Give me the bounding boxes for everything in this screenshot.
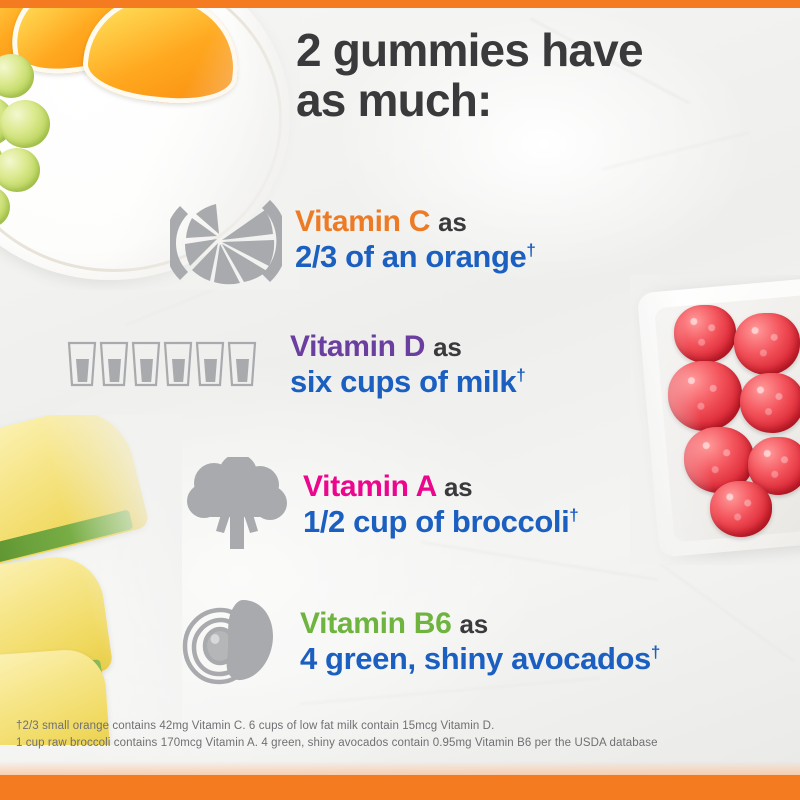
vitamin-a-nutrient-name: Vitamin A bbox=[303, 470, 436, 503]
vitamin-d-comparison-line: six cups of milk† bbox=[290, 364, 525, 401]
vitamin-c-comparison-line: 2/3 of an orange† bbox=[295, 239, 535, 276]
vitamin-b6-nutrient-line: Vitamin B6 as bbox=[300, 607, 660, 641]
vitamin-a-dagger: † bbox=[569, 505, 578, 524]
broccoli-icon bbox=[180, 455, 295, 555]
photo-raspberries-dish bbox=[630, 275, 800, 565]
vitamin-row-vitamin-b6: Vitamin B6 as 4 green, shiny avocados† bbox=[172, 592, 660, 692]
vitamin-b6-dagger: † bbox=[651, 642, 660, 661]
vitamin-row-vitamin-c: Vitamin C as 2/3 of an orange† bbox=[165, 192, 535, 288]
vitamin-d-connector: as bbox=[433, 332, 461, 362]
vitamin-c-nutrient-name: Vitamin C bbox=[295, 205, 430, 238]
vitamin-d-text-block: Vitamin D as six cups of milk† bbox=[290, 330, 525, 400]
avocado-icon bbox=[172, 592, 292, 692]
vitamin-a-text-block: Vitamin A as 1/2 cup of broccoli† bbox=[303, 470, 578, 540]
vitamin-c-dagger: † bbox=[526, 240, 535, 259]
vitamin-d-comparison: six cups of milk bbox=[290, 364, 516, 399]
footnote-disclaimer: †2/3 small orange contains 42mg Vitamin … bbox=[16, 718, 786, 753]
vitamin-a-comparison: 1/2 cup of broccoli bbox=[303, 504, 569, 539]
footnote-line-2: 1 cup raw broccoli contains 170mcg Vitam… bbox=[16, 735, 786, 752]
bottom-band-fade bbox=[0, 761, 800, 775]
vitamin-d-nutrient-name: Vitamin D bbox=[290, 330, 425, 363]
vitamin-c-connector: as bbox=[438, 207, 466, 237]
headline-line-2: as much: bbox=[296, 76, 766, 126]
citrus-slice-icon bbox=[165, 192, 287, 288]
headline-line-1: 2 gummies have bbox=[296, 26, 766, 76]
vitamin-b6-nutrient-name: Vitamin B6 bbox=[300, 607, 452, 640]
vitamin-row-vitamin-a: Vitamin A as 1/2 cup of broccoli† bbox=[180, 455, 578, 555]
vitamin-d-nutrient-line: Vitamin D as bbox=[290, 330, 525, 364]
page-title: 2 gummies have as much: bbox=[296, 26, 766, 125]
vitamin-d-dagger: † bbox=[516, 365, 525, 384]
vitamin-c-nutrient-line: Vitamin C as bbox=[295, 205, 535, 239]
vitamin-a-connector: as bbox=[444, 472, 472, 502]
vitamin-c-text-block: Vitamin C as 2/3 of an orange† bbox=[295, 205, 535, 275]
vitamin-c-comparison: 2/3 of an orange bbox=[295, 239, 526, 274]
vitamin-b6-text-block: Vitamin B6 as 4 green, shiny avocados† bbox=[300, 607, 660, 677]
photo-pineapple-wedges bbox=[0, 415, 182, 745]
vitamin-a-nutrient-line: Vitamin A as bbox=[303, 470, 578, 504]
vitamin-row-vitamin-d: Vitamin D as six cups of milk† bbox=[60, 330, 525, 400]
vitamin-b6-comparison: 4 green, shiny avocados bbox=[300, 641, 651, 676]
infographic-canvas: 2 gummies have as much: bbox=[0, 0, 800, 800]
top-orange-band bbox=[0, 0, 800, 8]
bottom-orange-band bbox=[0, 775, 800, 800]
vitamin-b6-connector: as bbox=[460, 609, 488, 639]
footnote-line-1: †2/3 small orange contains 42mg Vitamin … bbox=[16, 718, 786, 735]
vitamin-a-comparison-line: 1/2 cup of broccoli† bbox=[303, 504, 578, 541]
milk-glasses-icon bbox=[60, 330, 270, 400]
vitamin-b6-comparison-line: 4 green, shiny avocados† bbox=[300, 641, 660, 678]
